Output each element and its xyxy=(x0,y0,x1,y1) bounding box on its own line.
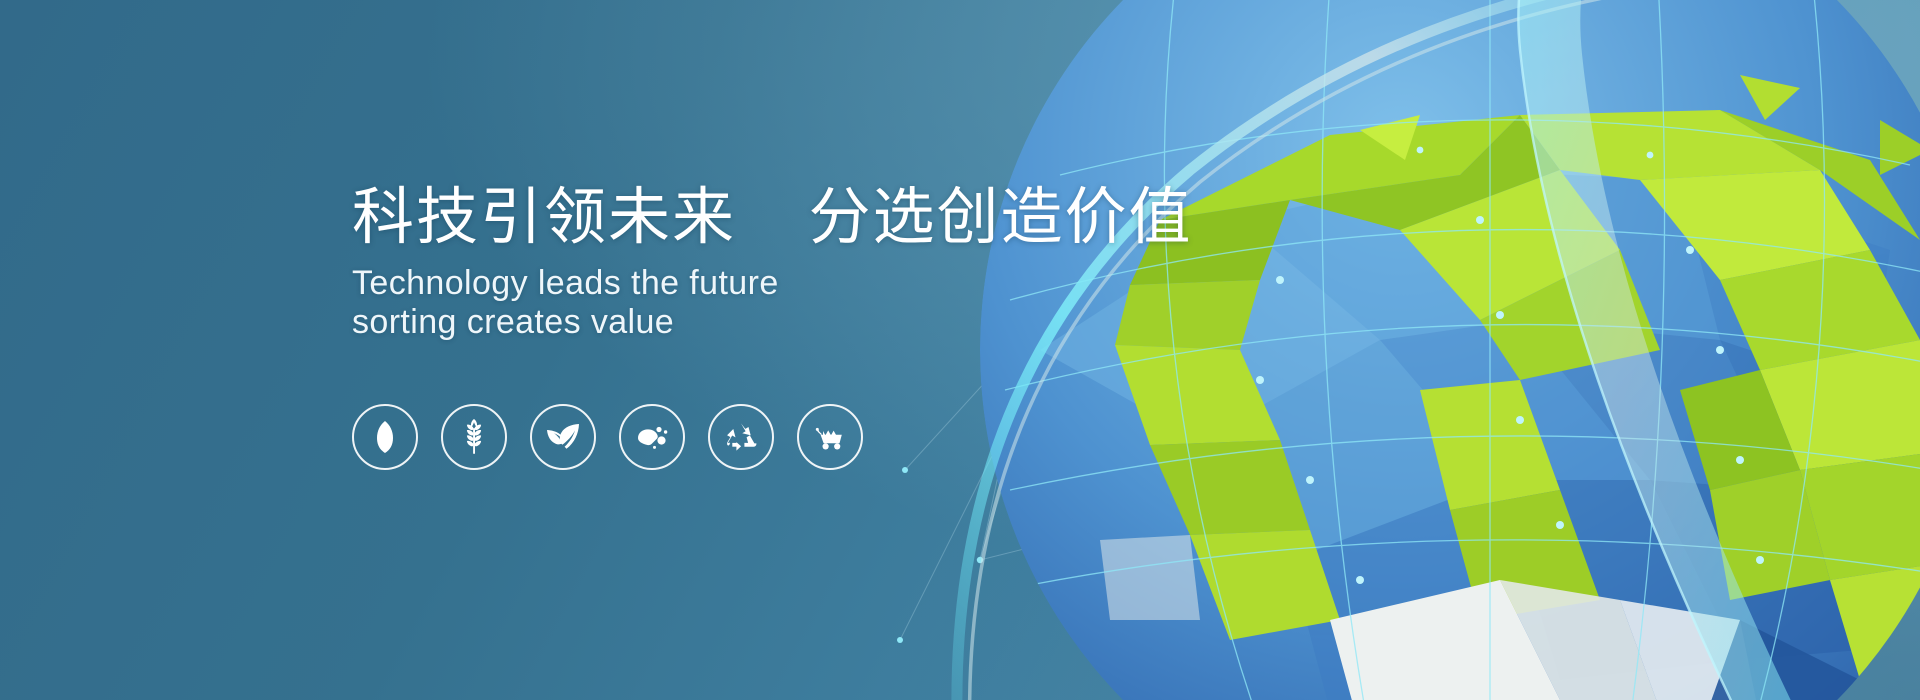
subtitle-line-2: sorting creates value xyxy=(352,303,1252,342)
nut-seed-icon[interactable] xyxy=(619,404,685,470)
recycle-icon[interactable] xyxy=(708,404,774,470)
industry-icon-row xyxy=(352,404,863,470)
wheat-stalk-icon[interactable] xyxy=(441,404,507,470)
banner-copy: 科技引领未来 分选创造价值 Technology leads the futur… xyxy=(352,185,1252,342)
headline-chinese-right: 分选创造价值 xyxy=(808,183,1192,252)
leaf-tea-icon[interactable] xyxy=(530,404,596,470)
banner-subtitle: Technology leads the future sorting crea… xyxy=(352,264,1252,342)
rice-grain-icon[interactable] xyxy=(352,404,418,470)
subtitle-line-1: Technology leads the future xyxy=(352,264,1252,303)
page-title: 科技引领未来 分选创造价值 xyxy=(352,185,1252,250)
headline-chinese-left: 科技引领未来 xyxy=(352,183,736,252)
mining-cart-icon[interactable] xyxy=(797,404,863,470)
hero-banner: 科技引领未来 分选创造价值 Technology leads the futur… xyxy=(0,0,1920,700)
low-poly-globe-graphic xyxy=(860,0,1920,700)
